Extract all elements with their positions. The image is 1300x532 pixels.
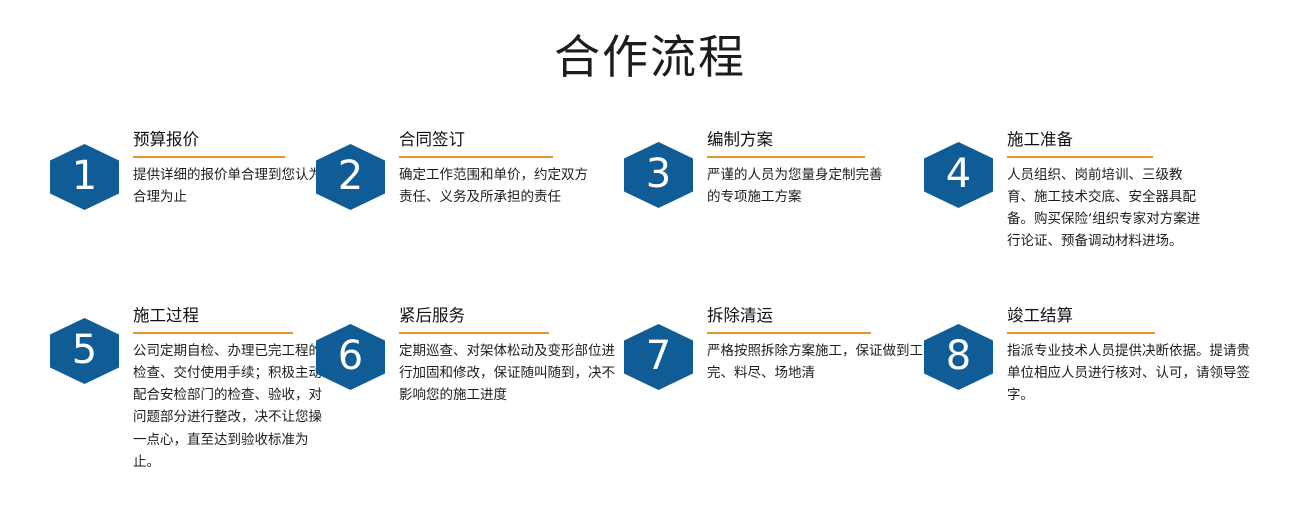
step-description: 人员组织、岗前培训、三级教育、施工技术交底、安全器具配备。购买保险‘组织专家对方… bbox=[1007, 164, 1203, 253]
process-step-2: 2 合同签订 确定工作范围和单价，约定双方责任、义务及所承担的责任 bbox=[308, 130, 614, 210]
step-text-block: 施工过程 公司定期自检、办理已完工程的检查、交付使用手续；积极主动配合安检部门的… bbox=[133, 306, 329, 473]
title-underline-rule bbox=[1007, 156, 1153, 158]
title-underline-rule bbox=[1007, 332, 1155, 334]
process-step-6: 6 紧后服务 定期巡查、对架体松动及变形部位进行加固和修改，保证随叫随到，决不影… bbox=[308, 306, 614, 406]
process-step-3: 3 编制方案 严谨的人员为您量身定制完善的专项施工方案 bbox=[614, 130, 914, 208]
step-badge-hexagon: 2 bbox=[316, 144, 385, 210]
step-number: 6 bbox=[338, 336, 363, 376]
step-badge-hexagon: 8 bbox=[924, 324, 993, 390]
step-description: 公司定期自检、办理已完工程的检查、交付使用手续；积极主动配合安检部门的检查、验收… bbox=[133, 340, 329, 474]
title-underline-rule bbox=[707, 332, 871, 334]
step-number: 7 bbox=[646, 336, 671, 376]
step-number: 5 bbox=[72, 330, 97, 370]
step-badge-hexagon: 3 bbox=[624, 142, 693, 208]
step-number: 3 bbox=[646, 154, 671, 194]
step-badge-hexagon: 7 bbox=[624, 324, 693, 390]
step-text-block: 紧后服务 定期巡查、对架体松动及变形部位进行加固和修改，保证随叫随到，决不影响您… bbox=[399, 306, 617, 406]
step-number: 4 bbox=[946, 154, 971, 194]
title-underline-rule bbox=[133, 156, 285, 158]
title-underline-rule bbox=[707, 156, 865, 158]
step-description: 严格按照拆除方案施工，保证做到工完、料尽、场地清 bbox=[707, 340, 935, 385]
step-title: 施工过程 bbox=[133, 306, 329, 327]
step-title: 拆除清运 bbox=[707, 306, 935, 327]
step-title: 预算报价 bbox=[133, 130, 329, 151]
title-underline-rule bbox=[399, 332, 549, 334]
page-title: 合作流程 bbox=[0, 0, 1300, 80]
process-step-1: 1 预算报价 提供详细的报价单合理到您认为合理为止 bbox=[0, 130, 308, 210]
step-title: 施工准备 bbox=[1007, 130, 1203, 151]
step-title: 合同签订 bbox=[399, 130, 601, 151]
process-steps-grid: 1 预算报价 提供详细的报价单合理到您认为合理为止 2 合同签订 确定工作范围和… bbox=[0, 130, 1300, 506]
title-underline-rule bbox=[133, 332, 293, 334]
process-step-5: 5 施工过程 公司定期自检、办理已完工程的检查、交付使用手续；积极主动配合安检部… bbox=[0, 306, 308, 473]
title-underline-rule bbox=[399, 156, 553, 158]
step-number: 1 bbox=[72, 156, 97, 196]
process-row-2: 5 施工过程 公司定期自检、办理已完工程的检查、交付使用手续；积极主动配合安检部… bbox=[0, 306, 1300, 506]
step-description: 确定工作范围和单价，约定双方责任、义务及所承担的责任 bbox=[399, 164, 601, 209]
step-text-block: 编制方案 严谨的人员为您量身定制完善的专项施工方案 bbox=[707, 130, 889, 208]
process-step-7: 7 拆除清运 严格按照拆除方案施工，保证做到工完、料尽、场地清 bbox=[614, 306, 914, 390]
step-number: 2 bbox=[338, 156, 363, 196]
step-badge-hexagon: 1 bbox=[50, 144, 119, 210]
step-title: 竣工结算 bbox=[1007, 306, 1251, 327]
process-step-4: 4 施工准备 人员组织、岗前培训、三级教育、施工技术交底、安全器具配备。购买保险… bbox=[914, 130, 1300, 253]
process-row-1: 1 预算报价 提供详细的报价单合理到您认为合理为止 2 合同签订 确定工作范围和… bbox=[0, 130, 1300, 306]
step-number: 8 bbox=[946, 336, 971, 376]
process-step-8: 8 竣工结算 指派专业技术人员提供决断依据。提请贵单位相应人员进行核对、认可，请… bbox=[914, 306, 1300, 406]
step-badge-hexagon: 6 bbox=[316, 324, 385, 390]
step-description: 定期巡查、对架体松动及变形部位进行加固和修改，保证随叫随到，决不影响您的施工进度 bbox=[399, 340, 617, 407]
step-badge-hexagon: 5 bbox=[50, 318, 119, 384]
step-description: 严谨的人员为您量身定制完善的专项施工方案 bbox=[707, 164, 889, 209]
step-text-block: 施工准备 人员组织、岗前培训、三级教育、施工技术交底、安全器具配备。购买保险‘组… bbox=[1007, 130, 1203, 253]
step-text-block: 竣工结算 指派专业技术人员提供决断依据。提请贵单位相应人员进行核对、认可，请领导… bbox=[1007, 306, 1251, 406]
step-text-block: 拆除清运 严格按照拆除方案施工，保证做到工完、料尽、场地清 bbox=[707, 306, 935, 384]
step-description: 指派专业技术人员提供决断依据。提请贵单位相应人员进行核对、认可，请领导签字。 bbox=[1007, 340, 1251, 407]
step-title: 紧后服务 bbox=[399, 306, 617, 327]
step-title: 编制方案 bbox=[707, 130, 889, 151]
step-text-block: 预算报价 提供详细的报价单合理到您认为合理为止 bbox=[133, 130, 329, 208]
step-description: 提供详细的报价单合理到您认为合理为止 bbox=[133, 164, 329, 209]
step-badge-hexagon: 4 bbox=[924, 142, 993, 208]
step-text-block: 合同签订 确定工作范围和单价，约定双方责任、义务及所承担的责任 bbox=[399, 130, 601, 208]
